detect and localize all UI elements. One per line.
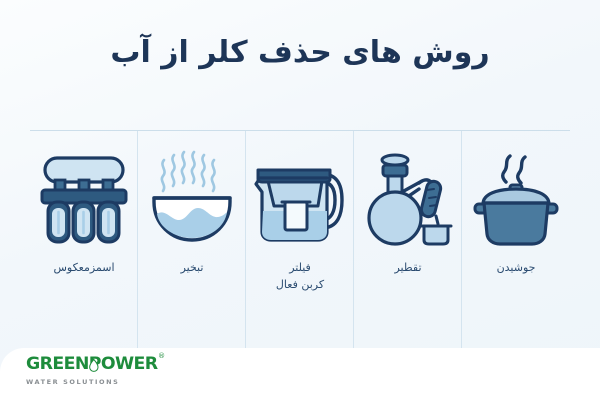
label-line: فیلتر	[276, 259, 324, 276]
brand-logo-text: GREENPOWER	[26, 354, 157, 374]
footer-bar: GREENPOWER ® WATER SOLUTIONS	[0, 348, 600, 400]
icon-container-boiling	[462, 131, 570, 259]
method-cell-distillation: تقطیر	[354, 131, 462, 348]
brand-logo: GREENPOWER ® WATER SOLUTIONS	[26, 356, 155, 386]
distillation-flask-icon	[362, 148, 454, 248]
title-container: روش های حذف کلر از آب	[0, 34, 600, 72]
methods-grid: جوشیدن	[30, 131, 570, 348]
evaporation-bowl-icon	[148, 148, 236, 248]
cooking-pot-icon	[473, 148, 559, 248]
icon-container-filter-pitcher	[246, 131, 354, 259]
brand-logo-wordmark: GREENPOWER ®	[26, 356, 157, 373]
method-label-distillation: تقطیر	[390, 259, 425, 276]
method-cell-activated-carbon-filter: فیلتر کربن فعال	[246, 131, 354, 348]
method-label-evaporation: تبخیر	[177, 259, 208, 276]
label-line: کربن فعال	[276, 276, 324, 293]
method-cell-evaporation: تبخیر	[138, 131, 246, 348]
method-label-boiling: جوشیدن	[493, 259, 540, 276]
method-label-activated-carbon-filter: فیلتر کربن فعال	[272, 259, 328, 293]
page-title: روش های حذف کلر از آب	[110, 34, 489, 72]
brand-logo-subtitle: WATER SOLUTIONS	[26, 378, 155, 386]
method-label-reverse-osmosis: اسمزمعکوس	[49, 259, 118, 276]
icon-container-evaporation	[138, 131, 246, 259]
registered-trademark-icon: ®	[158, 353, 165, 360]
infographic-poster: روش های حذف کلر از آب	[0, 0, 600, 400]
label-line: تبخیر	[181, 259, 204, 276]
label-line: اسمزمعکوس	[53, 259, 114, 276]
filter-pitcher-icon	[252, 148, 348, 248]
method-cell-reverse-osmosis: اسمزمعکوس	[30, 131, 138, 348]
icon-container-distillation	[354, 131, 462, 259]
method-cell-boiling: جوشیدن	[462, 131, 570, 348]
label-line: جوشیدن	[497, 259, 536, 276]
reverse-osmosis-system-icon	[38, 148, 130, 248]
label-line: تقطیر	[394, 259, 421, 276]
icon-container-reverse-osmosis	[30, 131, 138, 259]
